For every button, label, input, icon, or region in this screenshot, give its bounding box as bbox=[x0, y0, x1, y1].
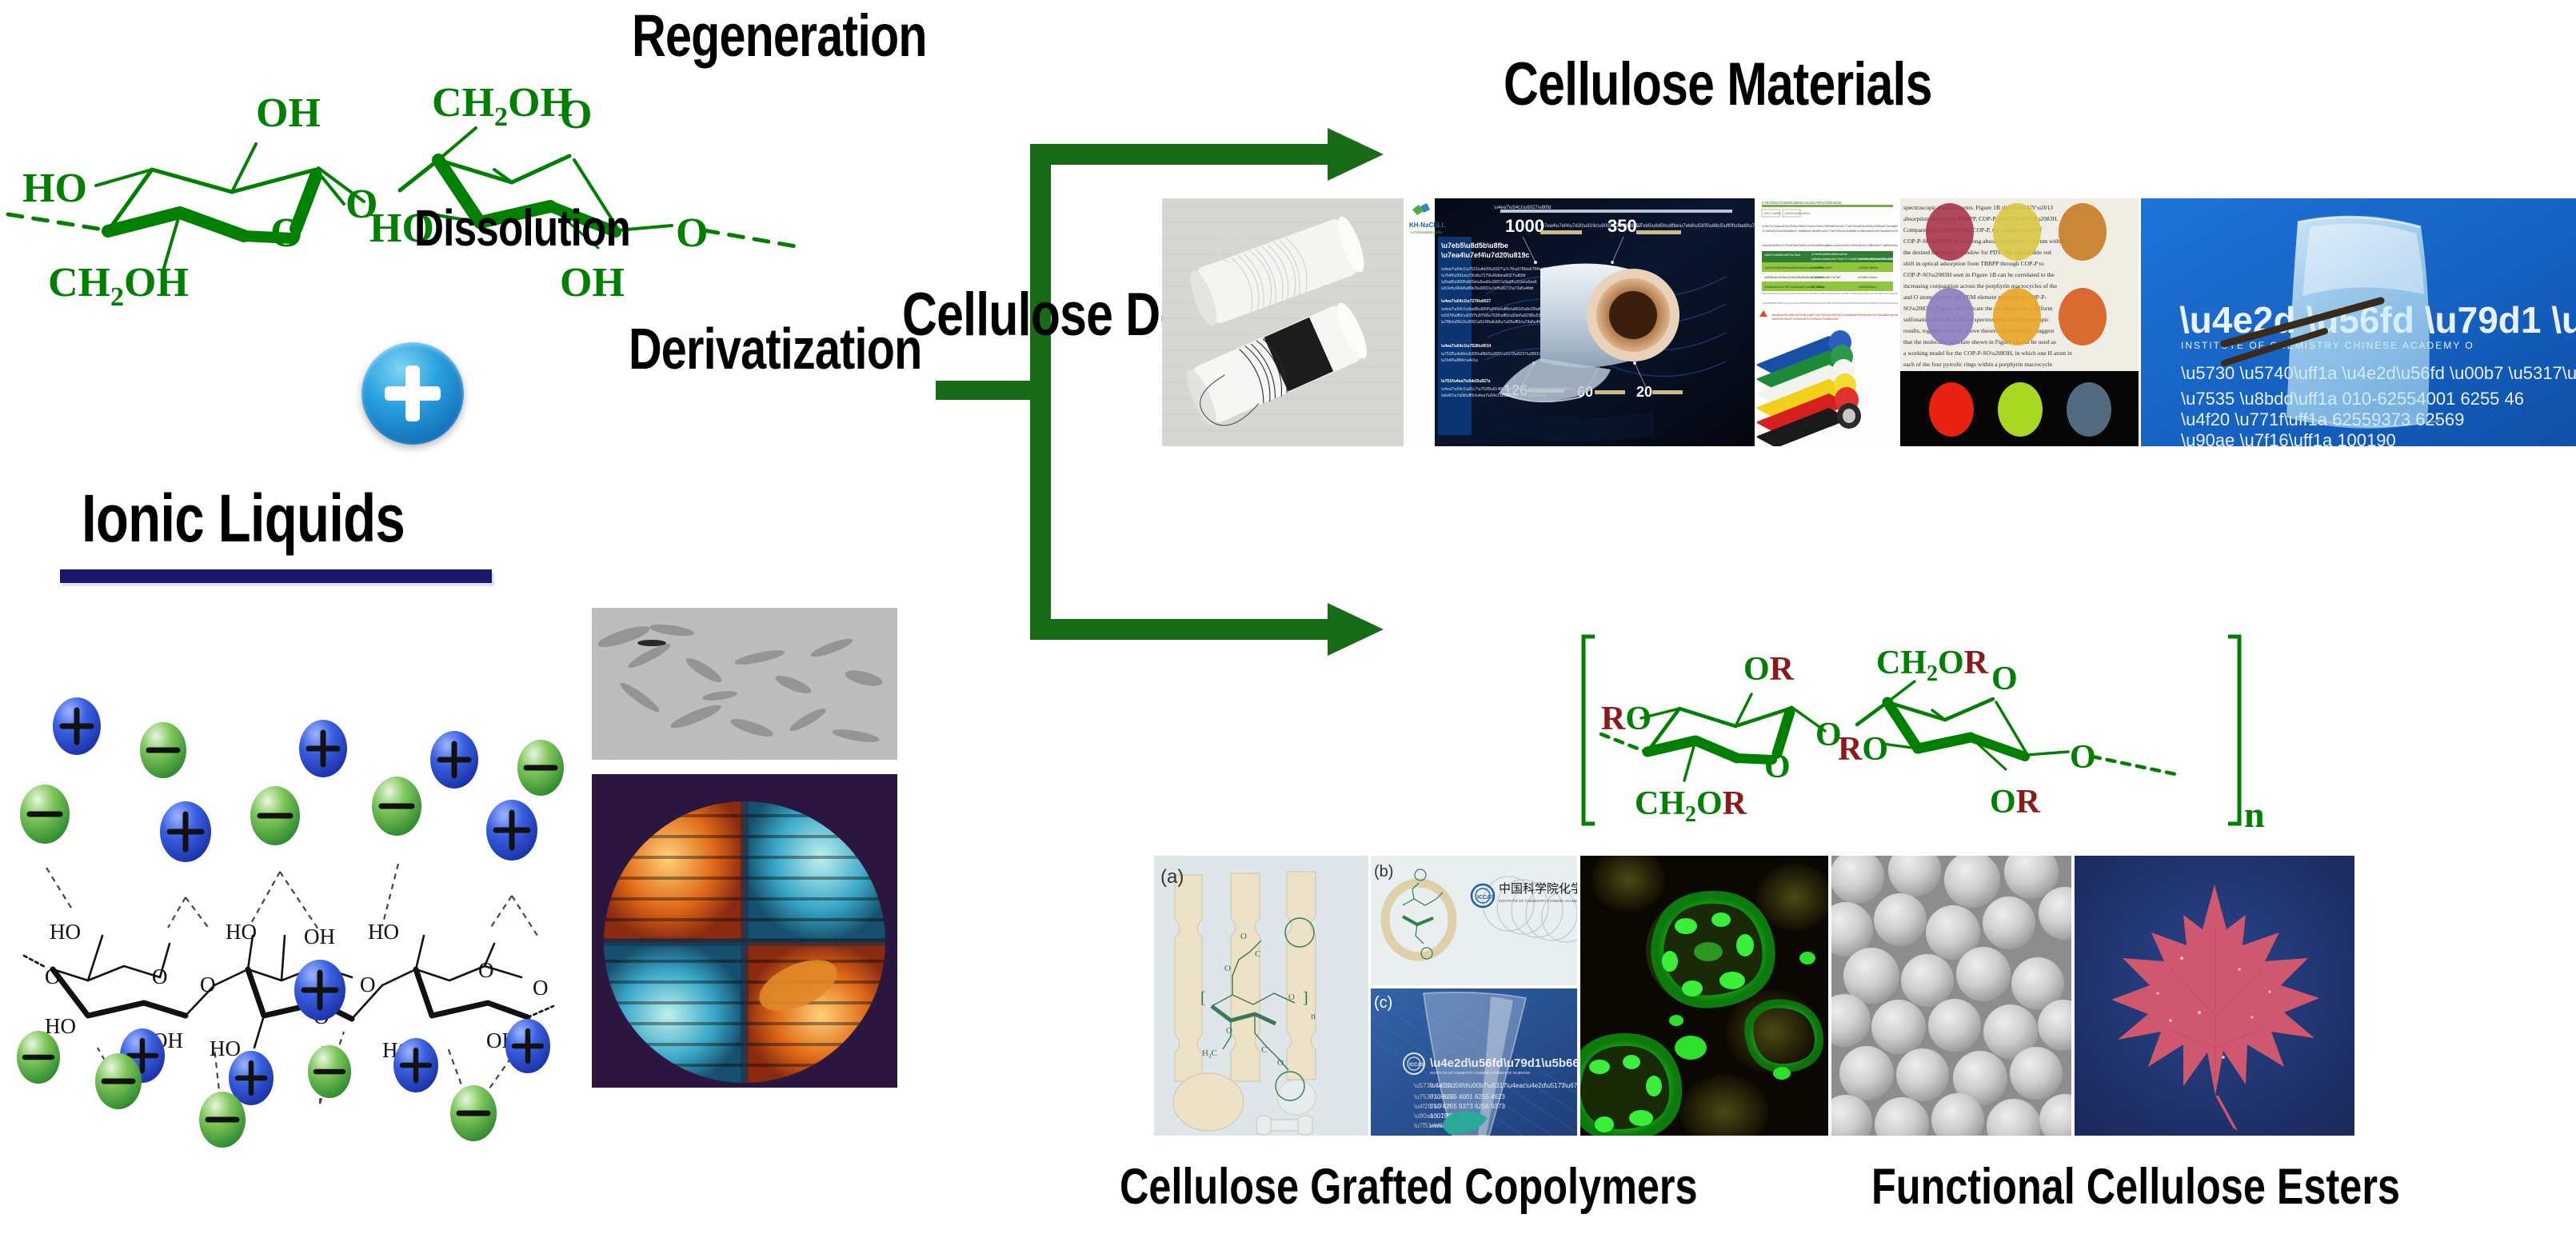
anion-ion bbox=[308, 1045, 351, 1098]
ionic-liquid-diagram: HO O O HO OH HO OH HO O O HO O HO OH O O bbox=[0, 672, 576, 1088]
cation-ion bbox=[53, 697, 101, 755]
cas-film-image: \u4e2d \u56fd \u79d1 \u5b66 \u9662 \u531… bbox=[2141, 198, 2576, 446]
svg-text:\u6027\u80fd: \u6027\u80fd bbox=[1763, 212, 1780, 215]
cast-ring-logo-en: INSTITUTE OF CHEMISTRY CHINESE ACADEMY O… bbox=[1499, 899, 1577, 903]
poster-stat-350: 350 bbox=[1608, 216, 1637, 236]
cast-ring-logo-cn: 中国科学院化学研究所 bbox=[1499, 881, 1577, 896]
cation-ion bbox=[505, 1019, 550, 1073]
fluorescent-capsule bbox=[1580, 1035, 1676, 1136]
deriv-label-RO-left: RO bbox=[1601, 701, 1651, 737]
svg-text:a working model for the COP-P-: a working model for the COP-P-SO\u2083H,… bbox=[1903, 349, 2072, 357]
il-label-O-4: O bbox=[360, 972, 376, 996]
plus-combination-icon bbox=[361, 342, 464, 445]
tem-image bbox=[592, 608, 897, 760]
deriv-label-O-ring-right: O bbox=[1991, 661, 2018, 697]
svg-text:\u767d\u8272\u900f\u660e\u7ea4: \u767d\u8272\u900f\u660e\u7ea4\u7ef4\u7d… bbox=[1762, 201, 1842, 205]
arrow-upper-branch bbox=[1030, 144, 1334, 165]
svg-text:COP-P-SO\u2083H seen in Figure: COP-P-SO\u2083H seen in Figure 1B can be… bbox=[1903, 271, 2055, 278]
cation-group bbox=[53, 697, 550, 1105]
svg-text:increasing conjugation across: increasing conjugation across the porphy… bbox=[1903, 282, 2058, 290]
chain-dash-right bbox=[704, 230, 796, 246]
svg-text:\u5b9e\u9a8c\u503c: \u5b9e\u9a8c\u503c bbox=[1784, 212, 1811, 215]
poster-stat-20: 20 bbox=[1636, 384, 1652, 400]
il-label-O-6: O bbox=[533, 976, 549, 1000]
anion-ion bbox=[17, 1031, 60, 1084]
pom-image bbox=[592, 774, 897, 1088]
svg-text:\u7b49\u591a\u79cd\u7279\u6b8a: \u7b49\u591a\u79cd\u7279\u6b8a\u6027\u80… bbox=[1441, 274, 1526, 278]
arrow-trunk bbox=[1030, 144, 1051, 640]
regeneration-label: Regeneration bbox=[632, 2, 927, 70]
functional-esters-caption: Functional Cellulose Esters bbox=[1871, 1158, 2400, 1216]
struct-label-C-2: C bbox=[1261, 1045, 1267, 1055]
anion-group bbox=[17, 722, 564, 1148]
cas-card-zip: \u90ae \u7f16\uff1a 100190 bbox=[2181, 430, 2396, 446]
anion-ion bbox=[250, 786, 300, 845]
struct-label-O-5: O bbox=[1277, 1058, 1284, 1068]
svg-text:ICCAS: ICCAS bbox=[1409, 1063, 1424, 1068]
deriv-label-CH2OR-right-top: CH2OR bbox=[1876, 645, 1989, 686]
label-OH-right-bottom: OH bbox=[560, 260, 625, 306]
deriv-subscript-n: n bbox=[2244, 794, 2265, 835]
svg-text:ICCAS: ICCAS bbox=[1477, 895, 1495, 901]
anion-ion bbox=[517, 740, 564, 796]
svg-text:\u7eb5\u8d5b\u8fbe: \u7eb5\u8d5b\u8fbe bbox=[1441, 242, 1508, 250]
arrow-upper-head bbox=[1328, 128, 1384, 181]
svg-text:\u597d\uff0c\u6297\u9759\u7535: \u597d\uff0c\u6297\u9759\u7535\uff0c\u53… bbox=[1441, 313, 1545, 318]
svg-text:\u22652.0N/cm: \u22652.0N/cm bbox=[1858, 276, 1877, 279]
svg-text:\u4ea7\u54c1\u7279\u6027: \u4ea7\u54c1\u7279\u6027 bbox=[1441, 299, 1491, 304]
cellulose-chain-black bbox=[24, 936, 553, 1048]
label-O-terminal: O bbox=[676, 210, 708, 256]
struct-label-C-1: C bbox=[1255, 949, 1260, 959]
svg-text:\u7ee7\u7eed\u4f7f\u7528\u7684: \u7ee7\u7eed\u4f7f\u7528\u7684\u7ea4\u7e… bbox=[1762, 225, 1898, 228]
il-label-HO-1: HO bbox=[50, 920, 81, 944]
il-label-OH-2: OH bbox=[304, 925, 335, 948]
svg-text:\u4ea7\u54c1\u6027\u80fd: \u4ea7\u54c1\u6027\u80fd bbox=[1494, 206, 1551, 210]
svg-text:\u7eb5\u8d5b\u8fbe\u7ea4\u7ef4: \u7eb5\u8d5b\u8fbe\u7ea4\u7ef4\u7d20\u81… bbox=[1762, 302, 1898, 305]
il-label-HO-5: HO bbox=[368, 920, 399, 944]
struct-bracket-l: [ bbox=[1200, 989, 1206, 1007]
anion-ion bbox=[450, 1085, 497, 1141]
anion-ion bbox=[140, 722, 186, 778]
ionic-liquids-heading: Ionic Liquids bbox=[82, 480, 405, 557]
struct-bracket-r: ] bbox=[1303, 989, 1308, 1007]
struct-label-O-3: O bbox=[1240, 932, 1247, 941]
cast-ring-image: (b) ICCAS 中国科学院化学研究所 INSTITUTE OF CHEMIS… bbox=[1371, 856, 1577, 985]
cation-ion bbox=[430, 731, 478, 789]
il-label-O-5: O bbox=[478, 958, 494, 982]
svg-text:\u7eb5\u8d5b\u8fbe: \u7eb5\u8d5b\u8fbe bbox=[1411, 230, 1444, 234]
label-OH-left-top: OH bbox=[256, 90, 321, 136]
deriv-label-RO-right: RO bbox=[1838, 731, 1888, 768]
svg-text:\u22650.58MPa: \u22650.58MPa bbox=[1858, 266, 1878, 270]
il-label-O-7: O bbox=[45, 964, 61, 988]
tensile-specimens-image: (a) O O C O O C O H3C n [ ] bbox=[1154, 856, 1368, 1136]
svg-text:\u53ef\u964d\u89e3\u3001\u7eff: \u53ef\u964d\u89e3\u3001\u7eff\u8272\u73… bbox=[1441, 286, 1534, 291]
svg-text:\u7eb5\u8d5b\u8fbe\u819c: \u7eb5\u8d5b\u8fbe\u819c bbox=[1811, 253, 1847, 256]
label-O-ring-left: O bbox=[270, 210, 302, 256]
anion-ion bbox=[20, 785, 70, 844]
deriv-label-O-terminal: O bbox=[2070, 739, 2096, 776]
anion-ion bbox=[372, 777, 421, 836]
deriv-label-OR-right-bottom: OR bbox=[1990, 784, 2041, 821]
svg-text:\u4ee5\u514d\u5f71\u54cd\u4f7f: \u4ee5\u514d\u5f71\u54cd\u4f7f\u7528\u60… bbox=[1771, 317, 1839, 321]
deriv-label-CH2OR-left-bottom: CH2OR bbox=[1635, 785, 1747, 827]
arrow-lower-branch bbox=[1030, 619, 1334, 640]
svg-text:\u4ea7\u54c1\u7528\u9014: \u4ea7\u54c1\u7528\u9014 bbox=[1441, 344, 1491, 349]
svg-text:\u5e38\u89c4\u6750\u6599\u5bf9: \u5e38\u89c4\u6750\u6599\u5bf9\u6bd4\u65… bbox=[1858, 258, 1898, 261]
il-label-O-1: O bbox=[152, 964, 168, 988]
derivatization-label: Derivatization bbox=[629, 317, 922, 382]
svg-text:\u7eb5\u8d5b\u8fbe\u7eb8\u5305: \u7eb5\u8d5b\u8fbe\u7eb8\u5305\u88c5\uff… bbox=[1636, 224, 1755, 229]
svg-text:\u7b49\u884c\u4e1a: \u7b49\u884c\u4e1a bbox=[1441, 358, 1478, 363]
svg-text:3.12N/cm: 3.12N/cm bbox=[1811, 276, 1823, 279]
chain-dash-left bbox=[8, 214, 108, 230]
fiber-spools-image bbox=[1162, 198, 1404, 446]
panel-label-a: (a) bbox=[1160, 866, 1184, 888]
maple-leaf-image bbox=[2075, 856, 2354, 1136]
anion-ion bbox=[199, 1092, 246, 1148]
struct-label-O-2: O bbox=[1288, 992, 1295, 1002]
dissolution-label: Dissolution bbox=[414, 198, 630, 258]
spec-sheet-image: \u767d\u8272\u900f\u660e\u7ea4\u7ef4\u7d… bbox=[1757, 198, 1898, 446]
svg-text:\u900f\u6c34\u6c14/\u6c34\u84b: \u900f\u6c34\u6c14/\u6c34\u84b8\u6c14\u9… bbox=[1764, 276, 1841, 279]
cation-ion bbox=[299, 720, 347, 777]
panel-label-b: (b) bbox=[1374, 863, 1393, 881]
label-CH2OH-left-bottom: CH2OH bbox=[48, 260, 189, 312]
svg-text:\u6ce8\uff1a\u4ee5\u4e0a\u6570: \u6ce8\uff1a\u4ee5\u4e0a\u6570\u636e\u4e… bbox=[1762, 292, 1898, 295]
fluorescence-cells-image bbox=[1580, 856, 1828, 1136]
anion-ion bbox=[95, 1053, 142, 1109]
svg-text:\u9ad8\u900f\u660e\u5ea6\u3001: \u9ad8\u900f\u660e\u5ea6\u3001\u9ad8\u5f… bbox=[1441, 280, 1537, 285]
fluorescent-capsule bbox=[1646, 893, 1771, 1008]
svg-text:\u7ea4\u7ef4\u7d20\u819c: \u7ea4\u7ef4\u7d20\u819c bbox=[1441, 251, 1530, 259]
svg-text:"\u7eff\u8272\u5305\u88c5" \u9: "\u7eff\u8272\u5305\u88c5" \u9886\u57df\… bbox=[1762, 230, 1898, 233]
struct-label-n: n bbox=[1311, 1010, 1316, 1021]
svg-text:\u7f8e\u89c2\u3001\u5149\u6cfd: \u7f8e\u89c2\u3001\u5149\u6cfd\u7a33\uff… bbox=[1441, 320, 1544, 325]
svg-text:\u6ce8\u610f\u4e8b\u9879\uff1a: \u6ce8\u610f\u4e8b\u9879\uff1a\u8bf7\u90… bbox=[1771, 313, 1898, 317]
il-label-HO-4: HO bbox=[210, 1036, 241, 1060]
cation-ion bbox=[160, 801, 211, 862]
il-label-HO-2: HO bbox=[45, 1014, 76, 1038]
cation-ion bbox=[486, 800, 537, 861]
il-label-O-2: O bbox=[200, 972, 216, 996]
svg-text:each of the four pyrrolic ring: each of the four pyrrolic rings within a… bbox=[1903, 361, 2053, 368]
svg-text:\u4ea7\u54c1\u7531\u4e09\u5927: \u4ea7\u54c1\u7531\u4e09\u5927\u7c7b\u57… bbox=[1441, 267, 1551, 272]
grafted-copolymers-caption: Cellulose Grafted Copolymers bbox=[1120, 1158, 1698, 1216]
svg-text:\u226535N/cm: \u226535N/cm bbox=[1858, 286, 1876, 289]
svg-text:shift in optical adsorption fr: shift in optical adsorption from TBBPP t… bbox=[1903, 260, 2044, 267]
plus-icon-glyph bbox=[381, 362, 444, 425]
cellulose-structure-diagram: HO OH CH2OH O O CH2OH O . . . . . . . . … bbox=[0, 32, 800, 304]
ionic-liquids-underline bbox=[60, 569, 492, 583]
svg-text:42.73N/cm: 42.73N/cm bbox=[1811, 286, 1825, 289]
label-HO-left: HO bbox=[22, 166, 87, 211]
svg-text:\u4e0d\u540c\u7c7b\u578b\u7684: \u4e0d\u540c\u7c7b\u578b\u7684\u7eb5\u8d… bbox=[1762, 244, 1898, 247]
svg-text:1.05MPa: 1.05MPa bbox=[1811, 266, 1823, 270]
il-label-HO-3: HO bbox=[226, 920, 257, 944]
deriv-label-O-ring-left: O bbox=[1764, 749, 1791, 785]
struct-label-O-1: O bbox=[1224, 964, 1231, 973]
cellulose-materials-heading: Cellulose Materials bbox=[1504, 50, 1932, 119]
cation-ion bbox=[393, 1038, 438, 1092]
arrow-lower-head bbox=[1328, 603, 1384, 656]
svg-text:\u6027\u80fd\u9879\u76ee: \u6027\u80fd\u9879\u76ee bbox=[1764, 254, 1800, 257]
deriv-label-OR-left-top: OR bbox=[1743, 651, 1795, 688]
cation-ion bbox=[294, 960, 345, 1020]
sem-microspheres-image bbox=[1831, 856, 2071, 1136]
poster-stat-1000: 1000 bbox=[1505, 216, 1544, 236]
svg-text:that the molecular structure s: that the molecular structure shown in Fi… bbox=[1903, 338, 2056, 345]
panel-label-c: (c) bbox=[1374, 994, 1392, 1012]
label-O-ring-right: O bbox=[560, 92, 592, 138]
svg-text:KH-NaCELL: KH-NaCELL bbox=[1409, 222, 1445, 229]
struct-label-O-4: O bbox=[1226, 1026, 1232, 1036]
label-CH2OH-right-top: CH2OH bbox=[432, 80, 573, 132]
transparent-sheet-image: (c) ICCAS \u4e2d\u56fd\u79d1\u5b66\u9662… bbox=[1371, 988, 1577, 1136]
colored-discs-image: spectroscopic measurements. Figure 1B sh… bbox=[1900, 198, 2139, 446]
svg-text:\u751f\u4ea7\u5de5\u827a: \u751f\u4ea7\u5de5\u827a bbox=[1441, 379, 1491, 384]
cellulose-derivative-structure: RO OR CH2OR O O CH2OR O . RO OR O n bbox=[1552, 632, 2271, 832]
film-roll-poster-image: KH-NaCELL \u7eb5\u8d5b\u8fbe \u7eb5\u8d5… bbox=[1406, 198, 1755, 446]
